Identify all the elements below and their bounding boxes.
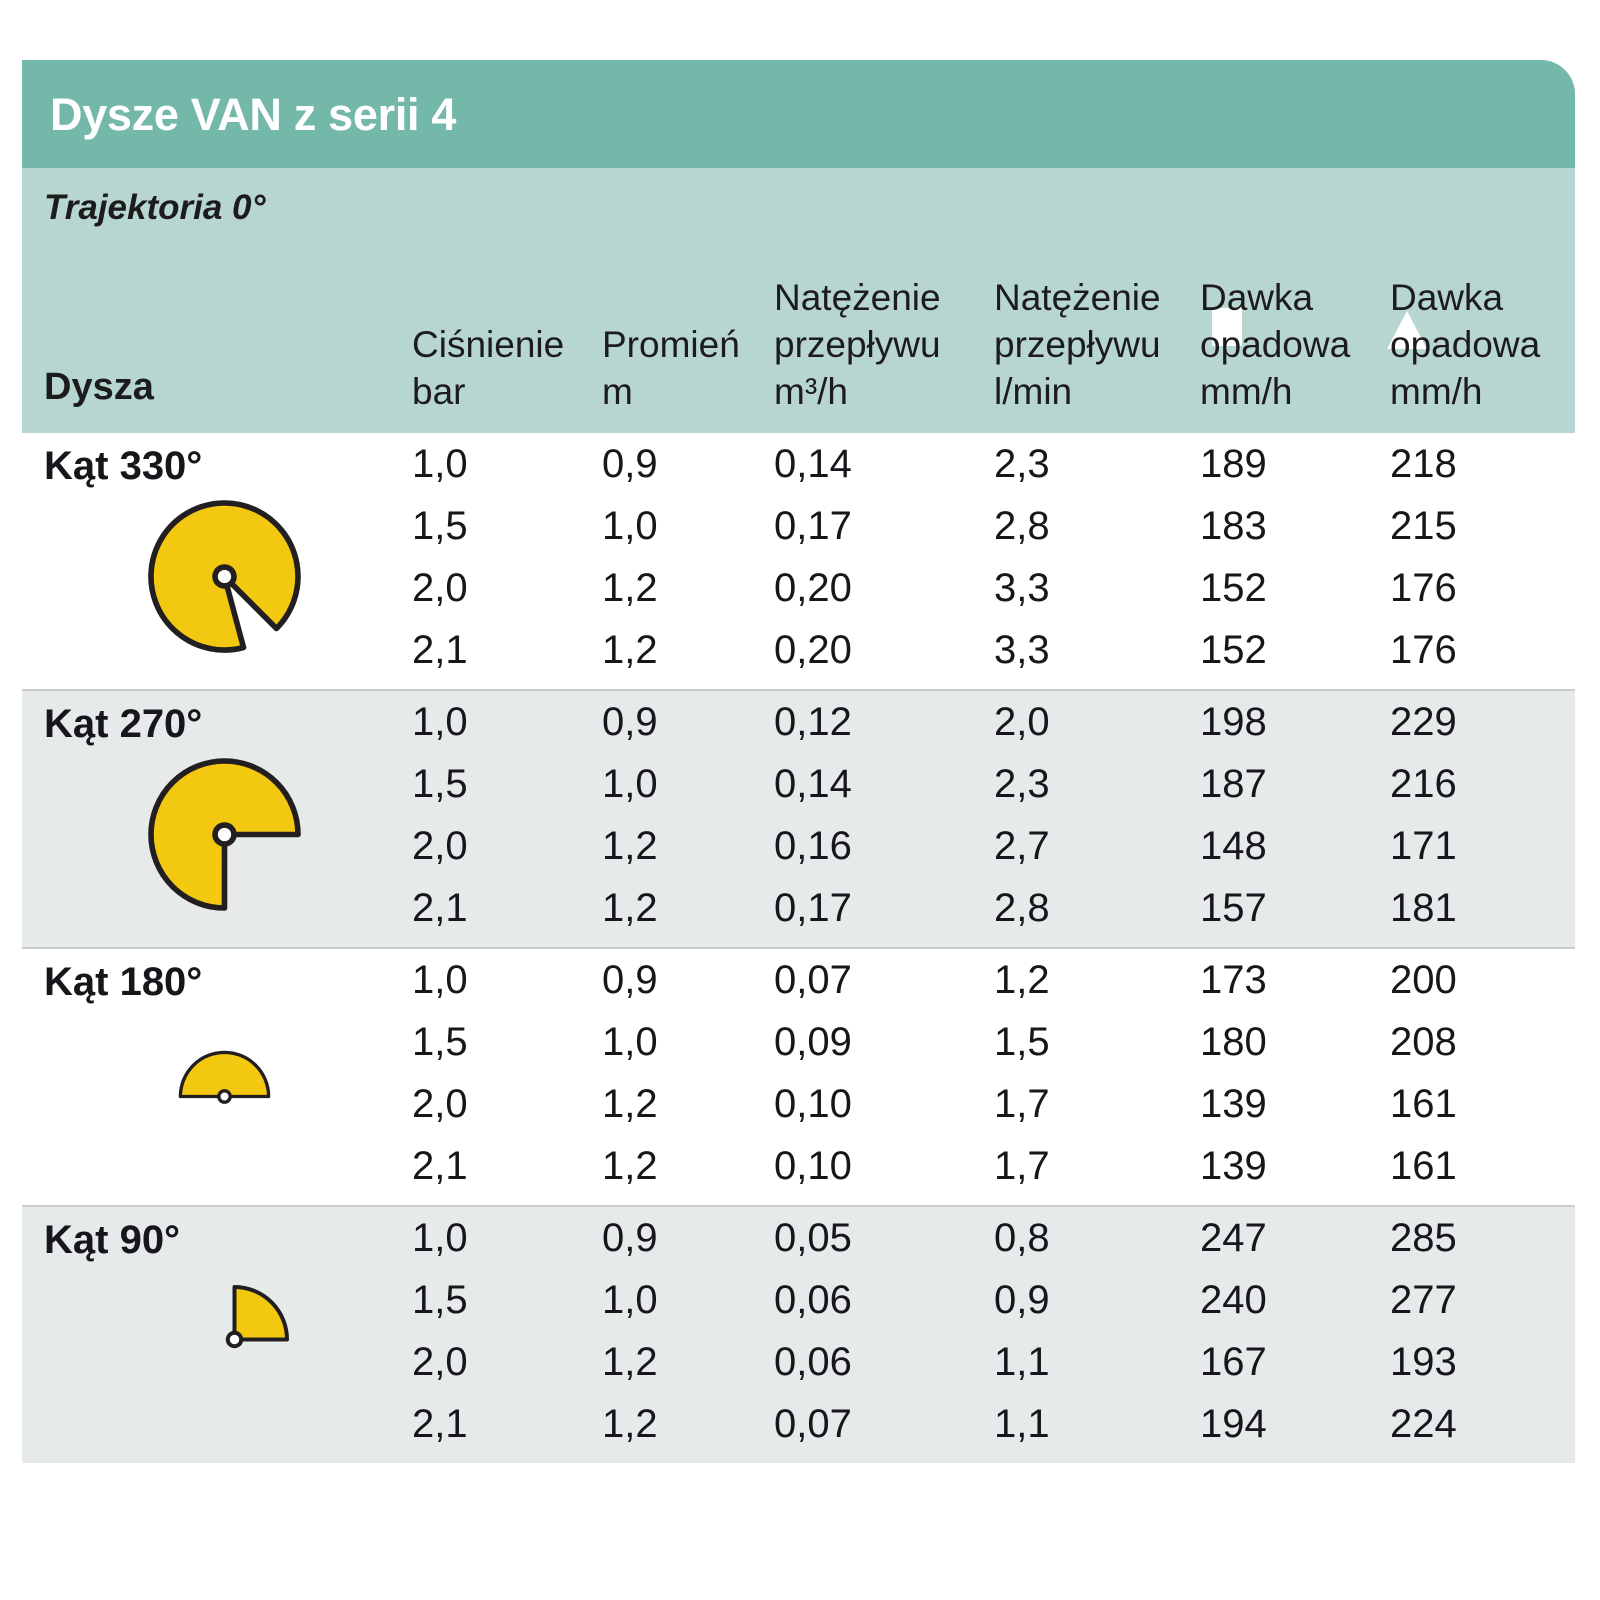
page-root: Dysze VAN z serii 4 Trajektoria 0° Dysza… [0,0,1600,1600]
cell-flow-lmin: 1,1 [994,1331,1050,1393]
cell-radius: 1,2 [602,557,658,619]
table-row: 1,51,00,060,9240277 [22,1269,1575,1331]
cell-radius: 1,0 [602,753,658,815]
table-row: 1,00,90,071,2173200 [22,949,1575,1011]
cell-precip-triangle: 224 [1390,1393,1457,1455]
column-header-precip-square: Dawka opadowa mm/h [1200,274,1350,415]
cell-flow-m3h: 0,05 [774,1207,852,1269]
cell-radius: 1,2 [602,877,658,939]
cell-radius: 0,9 [602,1207,658,1269]
table-row: 2,11,20,071,1194224 [22,1393,1575,1455]
cell-precip-triangle: 218 [1390,433,1457,495]
cell-flow-lmin: 0,9 [994,1269,1050,1331]
cell-pressure: 2,0 [412,1331,468,1393]
cell-radius: 0,9 [602,433,658,495]
cell-flow-m3h: 0,06 [774,1331,852,1393]
cell-flow-m3h: 0,07 [774,1393,852,1455]
cell-precip-square: 189 [1200,433,1267,495]
table-row: 1,00,90,050,8247285 [22,1207,1575,1269]
cell-flow-m3h: 0,20 [774,557,852,619]
cell-pressure: 1,0 [412,433,468,495]
cell-precip-triangle: 161 [1390,1073,1457,1135]
cell-pressure: 2,1 [412,619,468,681]
cell-pressure: 1,0 [412,949,468,1011]
table-row: 2,11,20,172,8157181 [22,877,1575,939]
cell-flow-lmin: 1,5 [994,1011,1050,1073]
cell-flow-m3h: 0,17 [774,495,852,557]
cell-flow-lmin: 1,2 [994,949,1050,1011]
cell-flow-m3h: 0,20 [774,619,852,681]
cell-precip-triangle: 176 [1390,557,1457,619]
cell-radius: 1,2 [602,1393,658,1455]
table-row: 2,01,20,101,7139161 [22,1073,1575,1135]
table-row: 1,51,00,142,3187216 [22,753,1575,815]
cell-radius: 1,2 [602,815,658,877]
table-title-bar: Dysze VAN z serii 4 [22,60,1575,168]
cell-precip-triangle: 216 [1390,753,1457,815]
table-row: 1,51,00,091,5180208 [22,1011,1575,1073]
cell-precip-triangle: 285 [1390,1207,1457,1269]
cell-radius: 0,9 [602,949,658,1011]
cell-flow-m3h: 0,14 [774,753,852,815]
cell-flow-m3h: 0,07 [774,949,852,1011]
cell-precip-square: 247 [1200,1207,1267,1269]
column-header-flow-lmin: Natężenie przepływu l/min [994,274,1161,415]
cell-precip-triangle: 161 [1390,1135,1457,1197]
cell-precip-triangle: 176 [1390,619,1457,681]
column-header-pressure: Ciśnienie bar [412,321,564,415]
cell-precip-triangle: 208 [1390,1011,1457,1073]
table-body: Kąt 330° 1,00,90,142,31892181,51,00,172,… [22,433,1575,1463]
cell-flow-lmin: 3,3 [994,619,1050,681]
cell-flow-m3h: 0,10 [774,1135,852,1197]
cell-pressure: 2,1 [412,877,468,939]
table-row: 1,51,00,172,8183215 [22,495,1575,557]
cell-flow-m3h: 0,16 [774,815,852,877]
cell-pressure: 1,0 [412,1207,468,1269]
cell-flow-lmin: 2,7 [994,815,1050,877]
cell-precip-square: 148 [1200,815,1267,877]
cell-precip-triangle: 200 [1390,949,1457,1011]
table-row: 2,01,20,203,3152176 [22,557,1575,619]
table-row: 2,11,20,203,3152176 [22,619,1575,681]
cell-precip-square: 139 [1200,1073,1267,1135]
cell-pressure: 2,0 [412,1073,468,1135]
cell-flow-m3h: 0,14 [774,433,852,495]
cell-radius: 1,2 [602,619,658,681]
cell-radius: 1,0 [602,495,658,557]
cell-flow-lmin: 3,3 [994,557,1050,619]
cell-precip-square: 152 [1200,619,1267,681]
table-header-band: Trajektoria 0° Dysza Ciśnienie bar Promi… [22,168,1575,433]
cell-flow-m3h: 0,06 [774,1269,852,1331]
cell-precip-triangle: 229 [1390,691,1457,753]
table-row: 2,11,20,101,7139161 [22,1135,1575,1197]
cell-pressure: 1,0 [412,691,468,753]
cell-pressure: 2,0 [412,557,468,619]
cell-flow-lmin: 0,8 [994,1207,1050,1269]
cell-pressure: 1,5 [412,753,468,815]
cell-flow-m3h: 0,17 [774,877,852,939]
cell-radius: 1,2 [602,1135,658,1197]
cell-pressure: 2,1 [412,1135,468,1197]
column-header-radius: Promień m [602,321,740,415]
cell-flow-lmin: 2,8 [994,877,1050,939]
cell-precip-square: 187 [1200,753,1267,815]
cell-precip-square: 173 [1200,949,1267,1011]
cell-flow-lmin: 1,7 [994,1135,1050,1197]
nozzle-group: Kąt 270° 1,00,90,122,01982291,51,00,142,… [22,689,1575,947]
cell-flow-lmin: 2,0 [994,691,1050,753]
cell-pressure: 1,5 [412,495,468,557]
cell-pressure: 1,5 [412,1269,468,1331]
nozzle-group: Kąt 330° 1,00,90,142,31892181,51,00,172,… [22,433,1575,689]
cell-radius: 1,0 [602,1011,658,1073]
cell-flow-m3h: 0,10 [774,1073,852,1135]
cell-precip-triangle: 171 [1390,815,1457,877]
cell-pressure: 1,5 [412,1011,468,1073]
column-header-precip-triangle: Dawka opadowa mm/h [1390,274,1540,415]
cell-precip-square: 240 [1200,1269,1267,1331]
cell-precip-square: 139 [1200,1135,1267,1197]
cell-flow-lmin: 2,3 [994,753,1050,815]
cell-radius: 0,9 [602,691,658,753]
nozzle-group: Kąt 180° 1,00,90,071,21732001,51,00,091,… [22,947,1575,1205]
cell-precip-square: 183 [1200,495,1267,557]
cell-flow-lmin: 1,7 [994,1073,1050,1135]
table-row: 2,01,20,061,1167193 [22,1331,1575,1393]
column-header-flow-m3h: Natężenie przepływu m³/h [774,274,941,415]
cell-radius: 1,0 [602,1269,658,1331]
cell-radius: 1,2 [602,1331,658,1393]
cell-flow-lmin: 1,1 [994,1393,1050,1455]
cell-precip-triangle: 193 [1390,1331,1457,1393]
nozzle-group: Kąt 90° 1,00,90,050,82472851,51,00,060,9… [22,1205,1575,1463]
cell-precip-triangle: 215 [1390,495,1457,557]
cell-flow-lmin: 2,8 [994,495,1050,557]
table-row: 1,00,90,122,0198229 [22,691,1575,753]
cell-flow-m3h: 0,09 [774,1011,852,1073]
nozzle-spec-table: Dysze VAN z serii 4 Trajektoria 0° Dysza… [22,60,1575,1463]
cell-pressure: 2,0 [412,815,468,877]
cell-radius: 1,2 [602,1073,658,1135]
cell-precip-square: 157 [1200,877,1267,939]
cell-precip-square: 167 [1200,1331,1267,1393]
column-header-nozzle: Dysza [44,364,154,411]
cell-precip-triangle: 181 [1390,877,1457,939]
cell-flow-m3h: 0,12 [774,691,852,753]
cell-precip-square: 198 [1200,691,1267,753]
cell-precip-square: 194 [1200,1393,1267,1455]
cell-pressure: 2,1 [412,1393,468,1455]
table-row: 1,00,90,142,3189218 [22,433,1575,495]
cell-precip-triangle: 277 [1390,1269,1457,1331]
cell-precip-square: 152 [1200,557,1267,619]
cell-flow-lmin: 2,3 [994,433,1050,495]
cell-precip-square: 180 [1200,1011,1267,1073]
table-row: 2,01,20,162,7148171 [22,815,1575,877]
page-title: Dysze VAN z serii 4 [50,92,456,137]
trajectory-label: Trajektoria 0° [44,188,266,228]
